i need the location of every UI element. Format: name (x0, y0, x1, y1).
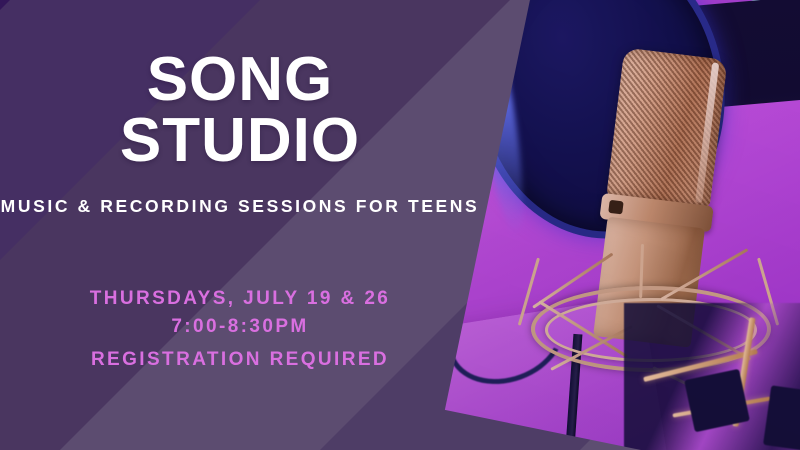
dates-line-2: 7:00-8:30PM (0, 313, 480, 341)
title-line-1: SONG (147, 45, 334, 114)
poster-title: SONG STUDIO (0, 50, 480, 172)
dates-line-1: THURSDAYS, JULY 19 & 26 (0, 285, 480, 313)
poster-dates: THURSDAYS, JULY 19 & 26 7:00-8:30PM (0, 285, 480, 340)
title-line-2: STUDIO (0, 111, 480, 172)
text-column: SONG STUDIO MUSIC & RECORDING SESSIONS F… (0, 0, 480, 450)
registration-notice: REGISTRATION REQUIRED (0, 349, 480, 371)
poster-canvas: SONG STUDIO MUSIC & RECORDING SESSIONS F… (0, 0, 800, 450)
poster-subtitle: MUSIC & RECORDING SESSIONS FOR TEENS (0, 196, 480, 217)
